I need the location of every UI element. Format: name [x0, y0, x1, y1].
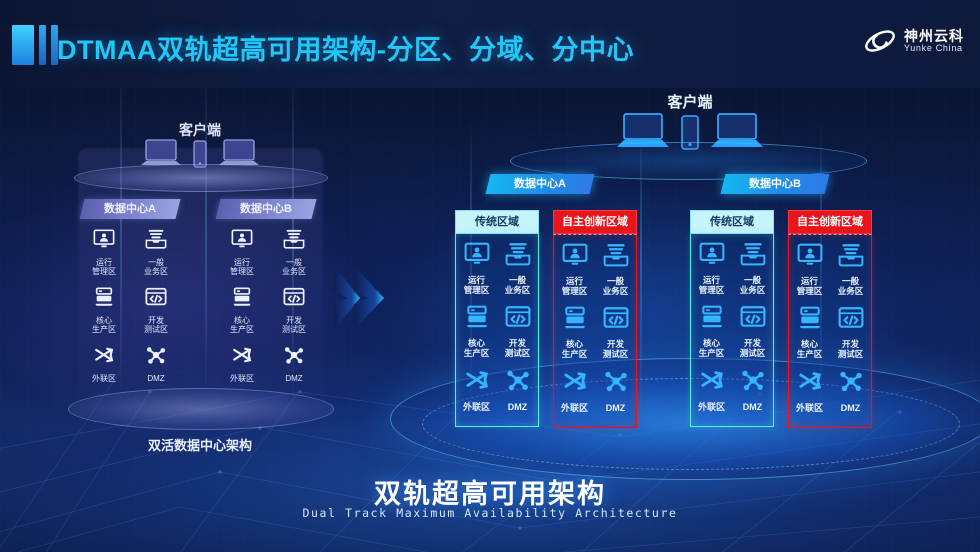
server-rack-icon: [93, 286, 115, 313]
zone-card-body: 运行管理区 一般业务区 核心生产区 开发测试区 外联区 DMZ: [455, 234, 539, 427]
network-molecule-icon: [283, 344, 305, 371]
zone-item[interactable]: 一般业务区: [830, 242, 871, 296]
dc-badge-a: 数据中心A: [486, 174, 595, 194]
zone-card-body: 运行管理区 一般业务区 核心生产区 开发测试区 外联区 DMZ: [788, 234, 872, 428]
zone-card-title: 传统区域: [690, 210, 774, 234]
legacy-zone-item: 一般业务区: [268, 228, 320, 277]
inbox-layers-icon: [740, 241, 766, 272]
network-molecule-icon: [740, 367, 766, 398]
server-rack-icon: [464, 304, 490, 335]
crossing-arrows-icon: [231, 344, 253, 371]
crossing-arrows-icon: [562, 368, 588, 399]
zone-card-innovation-a[interactable]: 自主创新区域 运行管理区 一般业务区 核心生产区 开发测试区 外联区 DMZ: [553, 210, 637, 428]
network-molecule-icon: [838, 368, 864, 399]
zone-icon-grid: 运行管理区 一般业务区 核心生产区 开发测试区 外联区 DMZ: [456, 241, 538, 412]
zone-item[interactable]: 运行管理区: [456, 241, 497, 295]
server-rack-icon: [699, 304, 725, 335]
zone-item[interactable]: DMZ: [595, 368, 636, 413]
code-window-icon: [283, 286, 305, 313]
legacy-zone-grid-a: 运行管理区 一般业务区 核心生产区 开发测试区 外联区 DMZ: [78, 228, 182, 384]
legacy-zone-item: 外联区: [216, 344, 268, 384]
zone-item[interactable]: DMZ: [830, 368, 871, 413]
title-accent-bars-icon: [12, 25, 58, 65]
crossing-arrows-icon: [464, 367, 490, 398]
inbox-layers-icon: [838, 242, 864, 273]
zone-item[interactable]: 核心生产区: [456, 304, 497, 358]
zone-item[interactable]: 开发测试区: [497, 304, 538, 358]
inbox-layers-icon: [505, 241, 531, 272]
code-window-icon: [145, 286, 167, 313]
legacy-zone-item: 一般业务区: [130, 228, 182, 277]
user-monitor-icon: [231, 228, 253, 255]
zone-card-body: 运行管理区 一般业务区 核心生产区 开发测试区 外联区 DMZ: [553, 234, 637, 428]
zone-item[interactable]: DMZ: [497, 367, 538, 412]
double-chevron-right-icon: [330, 258, 396, 343]
inbox-layers-icon: [283, 228, 305, 255]
zone-item[interactable]: DMZ: [732, 367, 773, 412]
zone-card-traditional-a[interactable]: 传统区域 运行管理区 一般业务区 核心生产区 开发测试区 外联区 DMZ: [455, 210, 539, 427]
user-monitor-icon: [464, 241, 490, 272]
legacy-zone-grid-b: 运行管理区 一般业务区 核心生产区 开发测试区 外联区 DMZ: [216, 228, 320, 384]
dtmaa-architecture-diagram: 客户端 数据中心A 传统区域 运行: [400, 88, 980, 508]
code-window-icon: [505, 304, 531, 335]
zone-icon-grid: 运行管理区 一般业务区 核心生产区 开发测试区 外联区 DMZ: [789, 242, 871, 413]
legacy-dc-badge-a: 数据中心A: [80, 199, 181, 219]
legacy-zone-item: DMZ: [130, 344, 182, 384]
zone-item[interactable]: 运行管理区: [789, 242, 830, 296]
zone-item[interactable]: 开发测试区: [595, 305, 636, 359]
zone-item[interactable]: 一般业务区: [497, 241, 538, 295]
logo-text-en: Yunke China: [904, 44, 964, 53]
zone-item[interactable]: 核心生产区: [691, 304, 732, 358]
zone-item[interactable]: 一般业务区: [732, 241, 773, 295]
legacy-zone-item: 运行管理区: [216, 228, 268, 277]
legacy-client-platform: [74, 164, 328, 192]
legacy-zone-item: 开发测试区: [268, 286, 320, 335]
zone-card-body: 运行管理区 一般业务区 核心生产区 开发测试区 外联区 DMZ: [690, 234, 774, 427]
swoosh-logo-icon: [863, 24, 897, 58]
network-molecule-icon: [145, 344, 167, 371]
zone-item[interactable]: 外联区: [789, 368, 830, 413]
zone-card-traditional-b[interactable]: 传统区域 运行管理区 一般业务区 核心生产区 开发测试区 外联区 DMZ: [690, 210, 774, 427]
crossing-arrows-icon: [93, 344, 115, 371]
network-molecule-icon: [505, 367, 531, 398]
code-window-icon: [603, 305, 629, 336]
page-title: DTMAA双轨超高可用架构-分区、分域、分中心: [57, 28, 634, 67]
zone-icon-grid: 运行管理区 一般业务区 核心生产区 开发测试区 外联区 DMZ: [554, 242, 636, 413]
crossing-arrows-icon: [699, 367, 725, 398]
zone-item[interactable]: 运行管理区: [554, 242, 595, 296]
network-molecule-icon: [603, 368, 629, 399]
zone-item[interactable]: 外联区: [554, 368, 595, 413]
code-window-icon: [740, 304, 766, 335]
user-monitor-icon: [699, 241, 725, 272]
client-label: 客户端: [400, 91, 980, 112]
header-bar: DTMAA双轨超高可用架构-分区、分域、分中心 神州云科 Yunke China: [0, 0, 980, 88]
zone-item[interactable]: 开发测试区: [830, 305, 871, 359]
legacy-zone-item: 核心生产区: [78, 286, 130, 335]
footer-title-en: Dual Track Maximum Availability Architec…: [0, 506, 980, 520]
brand-logo: 神州云科 Yunke China: [863, 24, 964, 58]
code-window-icon: [838, 305, 864, 336]
legacy-zone-item: 运行管理区: [78, 228, 130, 277]
zone-item[interactable]: 外联区: [456, 367, 497, 412]
zone-item[interactable]: 运行管理区: [691, 241, 732, 295]
legacy-base-platform: [68, 388, 334, 430]
zone-card-title: 传统区域: [455, 210, 539, 234]
server-rack-icon: [797, 305, 823, 336]
legacy-zone-item: 开发测试区: [130, 286, 182, 335]
zone-icon-grid: 运行管理区 一般业务区 核心生产区 开发测试区 外联区 DMZ: [691, 241, 773, 412]
zone-card-title: 自主创新区域: [553, 210, 637, 234]
inbox-layers-icon: [145, 228, 167, 255]
zone-item[interactable]: 一般业务区: [595, 242, 636, 296]
user-monitor-icon: [797, 242, 823, 273]
slide-canvas: DTMAA双轨超高可用架构-分区、分域、分中心 神州云科 Yunke China…: [0, 0, 980, 552]
legacy-zone-item: 核心生产区: [216, 286, 268, 335]
legacy-architecture-diagram: 客户端 数据中心A 数据中心B 运行管理区: [60, 120, 340, 460]
legacy-client-label: 客户端: [60, 120, 340, 140]
zone-card-innovation-b[interactable]: 自主创新区域 运行管理区 一般业务区 核心生产区 开发测试区 外联区 DMZ: [788, 210, 872, 428]
legacy-zone-item: DMZ: [268, 344, 320, 384]
inbox-layers-icon: [603, 242, 629, 273]
dc-badge-b: 数据中心B: [721, 174, 830, 194]
crossing-arrows-icon: [797, 368, 823, 399]
zone-item[interactable]: 外联区: [691, 367, 732, 412]
zone-card-title: 自主创新区域: [788, 210, 872, 234]
zone-item[interactable]: 开发测试区: [732, 304, 773, 358]
user-monitor-icon: [93, 228, 115, 255]
legacy-dc-badge-b: 数据中心B: [216, 199, 317, 219]
user-monitor-icon: [562, 242, 588, 273]
server-rack-icon: [231, 286, 253, 313]
legacy-caption: 双活数据中心架构: [60, 435, 340, 454]
legacy-zone-item: 外联区: [78, 344, 130, 384]
logo-text-cn: 神州云科: [904, 29, 964, 44]
server-rack-icon: [562, 305, 588, 336]
zone-item[interactable]: 核心生产区: [554, 305, 595, 359]
zone-item[interactable]: 核心生产区: [789, 305, 830, 359]
